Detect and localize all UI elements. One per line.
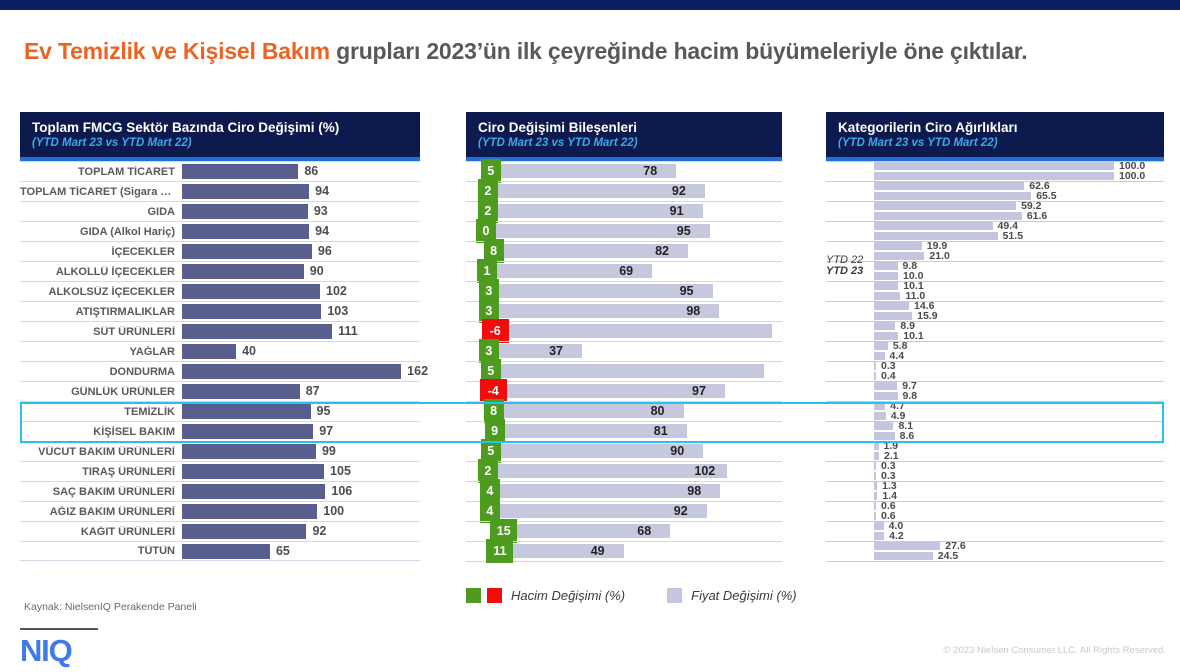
left-bar-row: DONDURMA162 [20,361,420,381]
left-row-bar-track: 96 [182,244,420,259]
mid-bar-row: 691 [466,261,782,281]
right-bar-ytd22 [874,202,1016,210]
mid-row-gridline [466,301,782,302]
right-row-gridline [826,501,1164,502]
legend-swatch-volume-positive [466,588,481,603]
left-row-bar-track: 94 [182,184,420,199]
right-bar-ytd23 [874,272,898,280]
left-row-value: 65 [276,543,290,559]
right-bar-group: 8.18.6 [826,421,1164,441]
panel-category-weights: Kategorilerin Ciro Ağırlıkları (YTD Mart… [826,112,1164,562]
mid-row-price-value: 81 [654,422,668,440]
left-bar-row: GIDA (Alkol Hariç)94 [20,221,420,241]
left-row-bar-track: 95 [182,404,420,419]
left-row-bar-track: 106 [182,484,420,499]
left-row-label: TÜTÜN [20,545,182,557]
left-row-bar-track: 102 [182,284,420,299]
mid-row-gridline [466,361,782,362]
mid-bar-row: -6 [466,321,782,341]
left-row-value: 90 [310,263,324,279]
left-row-value: 93 [314,203,328,219]
left-row-value: 97 [319,423,333,439]
left-row-bar-track: 93 [182,204,420,219]
left-bar-row: ALKOLLÜ İÇECEKLER90 [20,261,420,281]
left-row-bar-track: 90 [182,264,420,279]
right-value-ytd23: 0.4 [881,371,896,381]
left-row-label: GÜNLÜK ÜRÜNLER [20,386,182,398]
mid-bar-row: 950 [466,221,782,241]
right-bar-group: 4.04.2 [826,521,1164,541]
left-bar-row: KİŞİSEL BAKIM97 [20,421,420,441]
left-row-bar-track: 162 [182,364,420,379]
mid-bar-row: 97-4 [466,381,782,401]
mid-row-gridline [466,501,782,502]
mid-bar-row: 912 [466,201,782,221]
right-bar-group: 19.921.0 [826,241,1164,261]
left-row-bar [182,204,308,219]
right-bar-group: 100.0100.0 [826,161,1164,181]
mid-row-price-value: 92 [672,182,686,200]
source-note: Kaynak: NielsenIQ Perakende Paneli [24,601,197,613]
right-value-ytd23: 21.0 [929,251,949,261]
left-row-value: 92 [312,523,326,539]
left-row-bar [182,424,313,439]
right-bar-group: 9.810.0 [826,261,1164,281]
right-bar-ytd22 [874,522,884,530]
panel-left-title: Toplam FMCG Sektör Bazında Ciro Değişimi… [32,120,408,136]
mid-bar-row: 924 [466,501,782,521]
mid-row-price-value: 97 [692,382,706,400]
left-row-bar-track: 103 [182,304,420,319]
ytd-23-label: YTD 23 [826,266,872,277]
left-row-bar [182,324,332,339]
left-row-value: 96 [318,243,332,259]
left-row-bar-track: 40 [182,344,420,359]
right-bar-ytd23 [874,312,912,320]
panel-left-subtitle: (YTD Mart 23 vs YTD Mart 22) [32,136,408,150]
left-row-value: 99 [322,443,336,459]
right-bar-group: 59.261.6 [826,201,1164,221]
left-chart-rows: TOPLAM TİCARET86TOPLAM TİCARET (Sigara v… [20,161,420,561]
mid-row-gridline [466,221,782,222]
left-row-bar-track: 105 [182,464,420,479]
left-row-value: 95 [317,403,331,419]
right-bar-ytd23 [874,512,876,520]
left-row-bar [182,444,316,459]
right-value-ytd23: 24.5 [938,551,958,561]
left-row-label: VÜCUT BAKIM ÜRÜNLERİ [20,446,182,458]
page-title-highlight: Ev Temizlik ve Kişisel Bakım [24,38,330,64]
right-bar-group: 0.60.6 [826,501,1164,521]
panel-left-header: Toplam FMCG Sektör Bazında Ciro Değişimi… [20,112,420,157]
left-bar-row: İÇECEKLER96 [20,241,420,261]
mid-row-price-value: 92 [674,502,688,520]
left-row-label: TIRAŞ ÜRÜNLERİ [20,466,182,478]
left-row-bar-track: 97 [182,424,420,439]
mid-bar-row: 922 [466,181,782,201]
mid-bar-row: 953 [466,281,782,301]
left-row-label: YAĞLAR [20,346,182,358]
chart-legend: Hacim Değişimi (%) Fiyat Değişimi (%) [466,588,797,603]
niq-logo: NIQ [20,634,72,668]
left-bar-row: GÜNLÜK ÜRÜNLER87 [20,381,420,401]
mid-bar-row: 4911 [466,541,782,561]
mid-bar-row: 984 [466,481,782,501]
left-bar-row: TEMİZLİK95 [20,401,420,421]
right-bar-ytd22 [874,162,1114,170]
right-value-ytd23: 15.9 [917,311,937,321]
right-bar-ytd23 [874,292,900,300]
mid-row-gridline [466,341,782,342]
right-bar-group: 10.111.0 [826,281,1164,301]
right-bar-ytd23 [874,372,876,380]
left-bar-row: SAÇ BAKIM ÜRÜNLERİ106 [20,481,420,501]
left-row-bar [182,404,311,419]
right-bar-ytd23 [874,452,879,460]
mid-row-price-value: 95 [677,222,691,240]
left-bar-row: TOPLAM TİCARET (Sigara ve…94 [20,181,420,201]
right-bar-ytd22 [874,422,893,430]
left-row-label: TOPLAM TİCARET (Sigara ve… [20,186,182,198]
left-row-bar-track: 65 [182,544,420,559]
left-row-bar [182,524,306,539]
right-bar-ytd22 [874,482,877,490]
left-row-label: AĞIZ BAKIM ÜRÜNLERİ [20,506,182,518]
right-bar-group: 0.30.4 [826,361,1164,381]
left-row-label: ATIŞTIRMALIKLAR [20,306,182,318]
left-bar-row: TOPLAM TİCARET86 [20,161,420,181]
mid-row-price-bar [499,344,582,358]
right-bar-ytd23 [874,432,895,440]
left-bar-row: VÜCUT BAKIM ÜRÜNLERİ99 [20,441,420,461]
left-bar-row: TÜTÜN65 [20,541,420,561]
right-chart-rows: 100.0100.062.665.559.261.649.451.519.921… [826,161,1164,562]
ytd-series-labels: YTD 22 YTD 23 [826,255,872,277]
right-bar-group: 9.79.8 [826,381,1164,401]
mid-row-volume-badge-positive: 11 [486,539,513,563]
mid-row-gridline [466,461,782,462]
mid-row-gridline [466,281,782,282]
left-row-bar [182,484,325,499]
mid-row-gridline [466,201,782,202]
right-value-ytd23: 100.0 [1119,171,1145,181]
mid-row-price-value: 98 [687,482,701,500]
right-value-ytd23: 51.5 [1003,231,1023,241]
right-bar-ytd22 [874,302,909,310]
copyright-note: © 2023 Nielsen Consumer LLC. All Rights … [944,645,1166,656]
left-bar-row: TIRAŞ ÜRÜNLERİ105 [20,461,420,481]
mid-row-gridline [466,181,782,182]
right-value-ytd23: 4.2 [889,531,904,541]
right-bar-ytd23 [874,492,877,500]
top-accent-bar [0,0,1180,10]
left-row-value: 94 [315,223,329,239]
panel-mid-subtitle: (YTD Mart 23 vs YTD Mart 22) [478,136,770,150]
right-value-ytd23: 61.6 [1027,211,1047,221]
left-row-value: 100 [323,503,344,519]
right-bar-ytd23 [874,392,898,400]
right-bar-group: 62.665.5 [826,181,1164,201]
mid-row-gridline [466,381,782,382]
left-row-bar [182,504,317,519]
mid-row-price-bar [513,544,623,558]
right-bar-ytd23 [874,212,1022,220]
left-row-label: ALKOLSÜZ İÇECEKLER [20,286,182,298]
mid-row-gridline [466,441,782,442]
right-bar-group: 27.624.5 [826,541,1164,561]
right-bar-ytd22 [874,402,885,410]
mid-bar-row: 785 [466,161,782,181]
mid-row-price-bar [501,364,764,378]
mid-bar-row: 905 [466,441,782,461]
left-row-label: SÜT ÜRÜNLERİ [20,326,182,338]
left-bar-row: SÜT ÜRÜNLERİ111 [20,321,420,341]
right-bar-ytd22 [874,242,922,250]
mid-row-price-value: 69 [619,262,633,280]
left-row-value: 105 [330,463,351,479]
mid-row-price-value: 68 [637,522,651,540]
left-row-bar [182,464,324,479]
left-row-bar-track: 100 [182,504,420,519]
right-bar-ytd23 [874,532,884,540]
left-row-bar [182,284,320,299]
mid-bar-row: 828 [466,241,782,261]
mid-row-price-value: 90 [670,442,684,460]
right-bar-group: 0.30.3 [826,461,1164,481]
mid-bar-row: 983 [466,301,782,321]
left-row-label: TEMİZLİK [20,406,182,418]
legend-swatch-price [667,588,682,603]
mid-row-gridline [466,241,782,242]
mid-row-price-value: 82 [655,242,669,260]
right-bar-ytd22 [874,322,895,330]
mid-row-price-value: 91 [670,202,684,220]
right-bar-ytd23 [874,192,1031,200]
mid-row-price-value: 102 [694,462,715,480]
left-row-bar-track: 92 [182,524,420,539]
left-row-value: 94 [315,183,329,199]
left-row-value: 106 [331,483,352,499]
panel-right-subtitle: (YTD Mart 23 vs YTD Mart 22) [838,136,1152,150]
left-row-label: GIDA [20,206,182,218]
left-bar-row: KAĞIT ÜRÜNLERİ92 [20,521,420,541]
left-row-value: 40 [242,343,256,359]
right-bar-ytd22 [874,262,898,270]
mid-bar-row: 819 [466,421,782,441]
mid-bar-row: 6815 [466,521,782,541]
right-bar-ytd22 [874,462,876,470]
left-row-label: TOPLAM TİCARET [20,166,182,178]
right-bar-group: 1.92.1 [826,441,1164,461]
right-bar-ytd22 [874,362,876,370]
mid-row-gridline [466,401,782,402]
left-row-value: 103 [327,303,348,319]
left-bar-row: AĞIZ BAKIM ÜRÜNLERİ100 [20,501,420,521]
legend-swatch-volume-negative [487,588,502,603]
panel-revenue-components: Ciro Değişimi Bileşenleri (YTD Mart 23 v… [466,112,782,562]
mid-row-price-value: 37 [549,342,563,360]
left-row-bar-track: 111 [182,324,420,339]
left-bar-row: YAĞLAR40 [20,341,420,361]
left-row-label: DONDURMA [20,366,182,378]
left-row-value: 162 [407,363,428,379]
panel-mid-title: Ciro Değişimi Bileşenleri [478,120,770,136]
mid-row-price-value: 78 [643,162,657,180]
mid-row-gridline [466,161,782,162]
mid-row-gridline [466,481,782,482]
panel-revenue-change: Toplam FMCG Sektör Bazında Ciro Değişimi… [20,112,420,561]
right-bar-ytd22 [874,182,1024,190]
right-bar-group: 49.451.5 [826,221,1164,241]
left-row-label: KAĞIT ÜRÜNLERİ [20,526,182,538]
right-bottom-rule [826,561,1164,562]
page-title-rest: grupları 2023’ün ilk çeyreğinde hacim bü… [330,38,1028,64]
mid-bar-row: 1022 [466,461,782,481]
slide-canvas: Ev Temizlik ve Kişisel Bakım grupları 20… [0,0,1180,672]
left-bar-row: GIDA93 [20,201,420,221]
mid-row-price-bar [509,324,772,338]
left-bar-row: ALKOLSÜZ İÇECEKLER102 [20,281,420,301]
mid-row-gridline [466,421,782,422]
right-bar-group: 8.910.1 [826,321,1164,341]
right-bar-ytd23 [874,472,876,480]
mid-row-price-value: 49 [591,542,605,560]
mid-row-price-value: 95 [680,282,694,300]
right-row-gridline [826,461,1164,462]
right-bar-ytd23 [874,232,998,240]
page-title: Ev Temizlik ve Kişisel Bakım grupları 20… [24,38,1164,65]
right-bar-ytd23 [874,332,898,340]
mid-bar-row: 5 [466,361,782,381]
right-bar-group: 14.615.9 [826,301,1164,321]
right-bar-ytd22 [874,282,898,290]
left-row-value: 111 [338,323,357,339]
left-row-value: 86 [304,163,318,179]
mid-bar-row: 808 [466,401,782,421]
left-row-bar [182,384,300,399]
left-row-bar-track: 86 [182,164,420,179]
left-row-label: İÇECEKLER [20,246,182,258]
left-row-label: ALKOLLÜ İÇECEKLER [20,266,182,278]
right-bar-group: 1.31.4 [826,481,1164,501]
left-row-label: SAÇ BAKIM ÜRÜNLERİ [20,486,182,498]
right-bar-ytd22 [874,342,888,350]
legend-label-price: Fiyat Değişimi (%) [691,588,796,603]
mid-row-price-value: 80 [651,402,665,420]
right-bar-group: 4.74.9 [826,401,1164,421]
left-row-bar [182,304,321,319]
left-row-bar [182,364,401,379]
left-row-bar-track: 99 [182,444,420,459]
right-bar-group: 5.84.4 [826,341,1164,361]
left-row-bar [182,224,309,239]
panel-mid-header: Ciro Değişimi Bileşenleri (YTD Mart 23 v… [466,112,782,157]
panel-right-header: Kategorilerin Ciro Ağırlıkları (YTD Mart… [826,112,1164,157]
right-bar-ytd23 [874,172,1114,180]
mid-row-price-bar [498,464,728,478]
left-row-bar-track: 94 [182,224,420,239]
left-row-bar [182,344,236,359]
right-bar-ytd22 [874,382,897,390]
right-row-gridline [826,361,1164,362]
right-bar-ytd22 [874,222,993,230]
right-value-ytd23: 8.6 [900,431,915,441]
left-row-value: 87 [306,383,320,399]
panel-right-title: Kategorilerin Ciro Ağırlıkları [838,120,1152,136]
left-row-bar [182,544,270,559]
left-row-bar [182,264,304,279]
left-row-bar [182,164,298,179]
left-row-label: GIDA (Alkol Hariç) [20,226,182,238]
left-row-label: KİŞİSEL BAKIM [20,426,182,438]
left-row-bar-track: 87 [182,384,420,399]
right-bar-ytd22 [874,502,876,510]
right-bar-ytd22 [874,442,879,450]
mid-chart-rows: 785922912950828691953983-6373597-4808819… [466,161,782,562]
right-bar-ytd23 [874,352,885,360]
mid-row-price-value: 98 [686,302,700,320]
legend-label-volume: Hacim Değişimi (%) [511,588,625,603]
left-bar-row: ATIŞTIRMALIKLAR103 [20,301,420,321]
right-bar-ytd23 [874,252,924,260]
right-bar-ytd22 [874,542,940,550]
footer-divider [20,628,98,630]
right-bar-ytd23 [874,552,933,560]
left-row-bar [182,184,309,199]
right-bar-ytd23 [874,412,886,420]
left-row-bar [182,244,312,259]
mid-row-gridline [466,321,782,322]
mid-bar-row: 373 [466,341,782,361]
left-row-value: 102 [326,283,347,299]
